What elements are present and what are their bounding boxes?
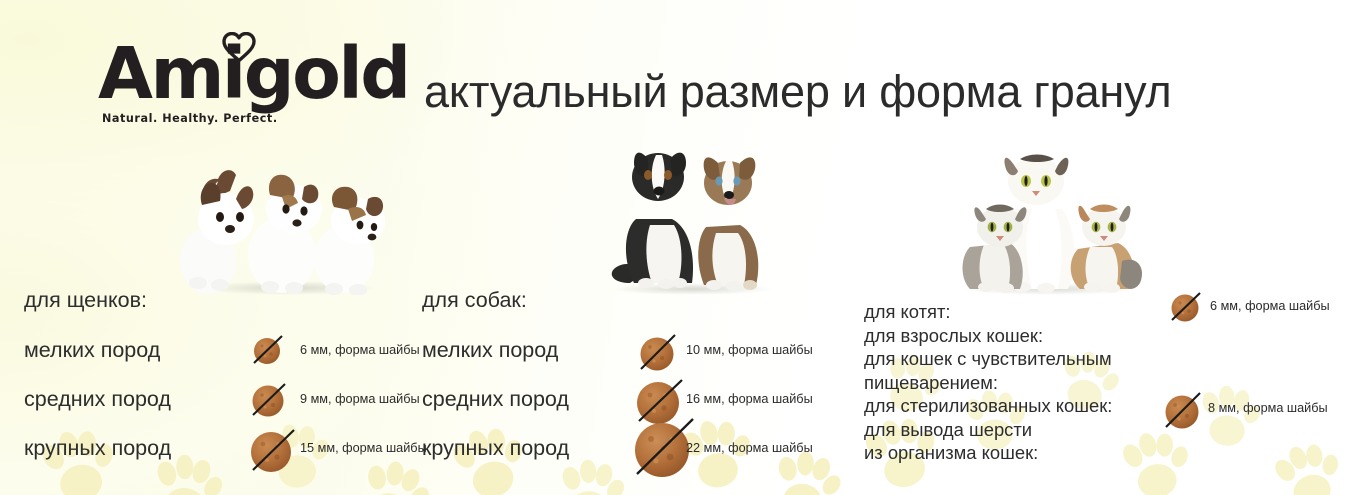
kibble-disc-6mm bbox=[252, 332, 286, 366]
cats-line-2: для кошек с чувствительным bbox=[864, 347, 1368, 371]
cats-note-0: 6 мм, форма шайбы bbox=[1210, 299, 1330, 313]
cats-photo bbox=[946, 143, 1156, 295]
kibble-disc-10mm bbox=[637, 330, 681, 374]
dogs-row-1-note: 16 мм, форма шайбы bbox=[686, 392, 813, 406]
cats-line-6: из организма кошек: bbox=[864, 441, 1368, 465]
cats-note-1: 8 мм, форма шайбы bbox=[1208, 401, 1328, 415]
puppies-photo bbox=[178, 143, 394, 295]
kibble-disc-cats-8mm bbox=[1162, 388, 1206, 432]
puppies-row-0-label: мелких пород bbox=[24, 338, 160, 363]
dogs-row-2-label: крупных пород bbox=[422, 436, 569, 461]
brand-tagline: Natural. Healthy. Perfect. bbox=[102, 112, 278, 125]
dogs-row-0-note: 10 мм, форма шайбы bbox=[686, 343, 813, 357]
dogs-row-2-note: 22 мм, форма шайбы bbox=[686, 441, 813, 455]
brand-logo: Amigold Natural. Healthy. Perfect. bbox=[98, 28, 418, 140]
kibble-disc-cats-6mm bbox=[1169, 288, 1205, 324]
column-title-puppies: для щенков: bbox=[24, 288, 147, 313]
puppies-row-2-note: 15 мм, форма шайбы bbox=[300, 441, 427, 455]
dogs-row-0-label: мелких пород bbox=[422, 338, 558, 363]
cats-line-3: пищеварением: bbox=[864, 371, 1368, 395]
dogs-row-1-label: средних пород bbox=[422, 387, 569, 412]
page-title: актуальный размер и форма гранул bbox=[424, 66, 1171, 118]
cats-line-1: для взрослых кошек: bbox=[864, 324, 1368, 348]
puppies-row-1-note: 9 мм, форма шайбы bbox=[300, 392, 420, 406]
column-title-dogs: для собак: bbox=[422, 288, 527, 313]
cats-line-5: для вывода шерсти bbox=[864, 418, 1368, 442]
heart-icon bbox=[222, 32, 256, 62]
column-puppies: для щенков: мелких пород средних пород к… bbox=[24, 288, 424, 488]
kibble-disc-15mm bbox=[248, 424, 302, 478]
puppies-row-1-label: средних пород bbox=[24, 387, 171, 412]
poster-header: Amigold Natural. Healthy. Perfect. актуа… bbox=[0, 22, 1368, 134]
puppies-row-2-label: крупных пород bbox=[24, 436, 171, 461]
dogs-photo bbox=[600, 133, 784, 295]
poster-canvas: Amigold Natural. Healthy. Perfect. актуа… bbox=[0, 0, 1368, 495]
kibble-disc-9mm bbox=[250, 379, 290, 419]
puppies-row-0-note: 6 мм, форма шайбы bbox=[300, 343, 420, 357]
column-cats: для котят: для взрослых кошек: для кошек… bbox=[864, 300, 1368, 480]
column-dogs: для собак: мелких пород средних пород кр… bbox=[422, 288, 842, 488]
